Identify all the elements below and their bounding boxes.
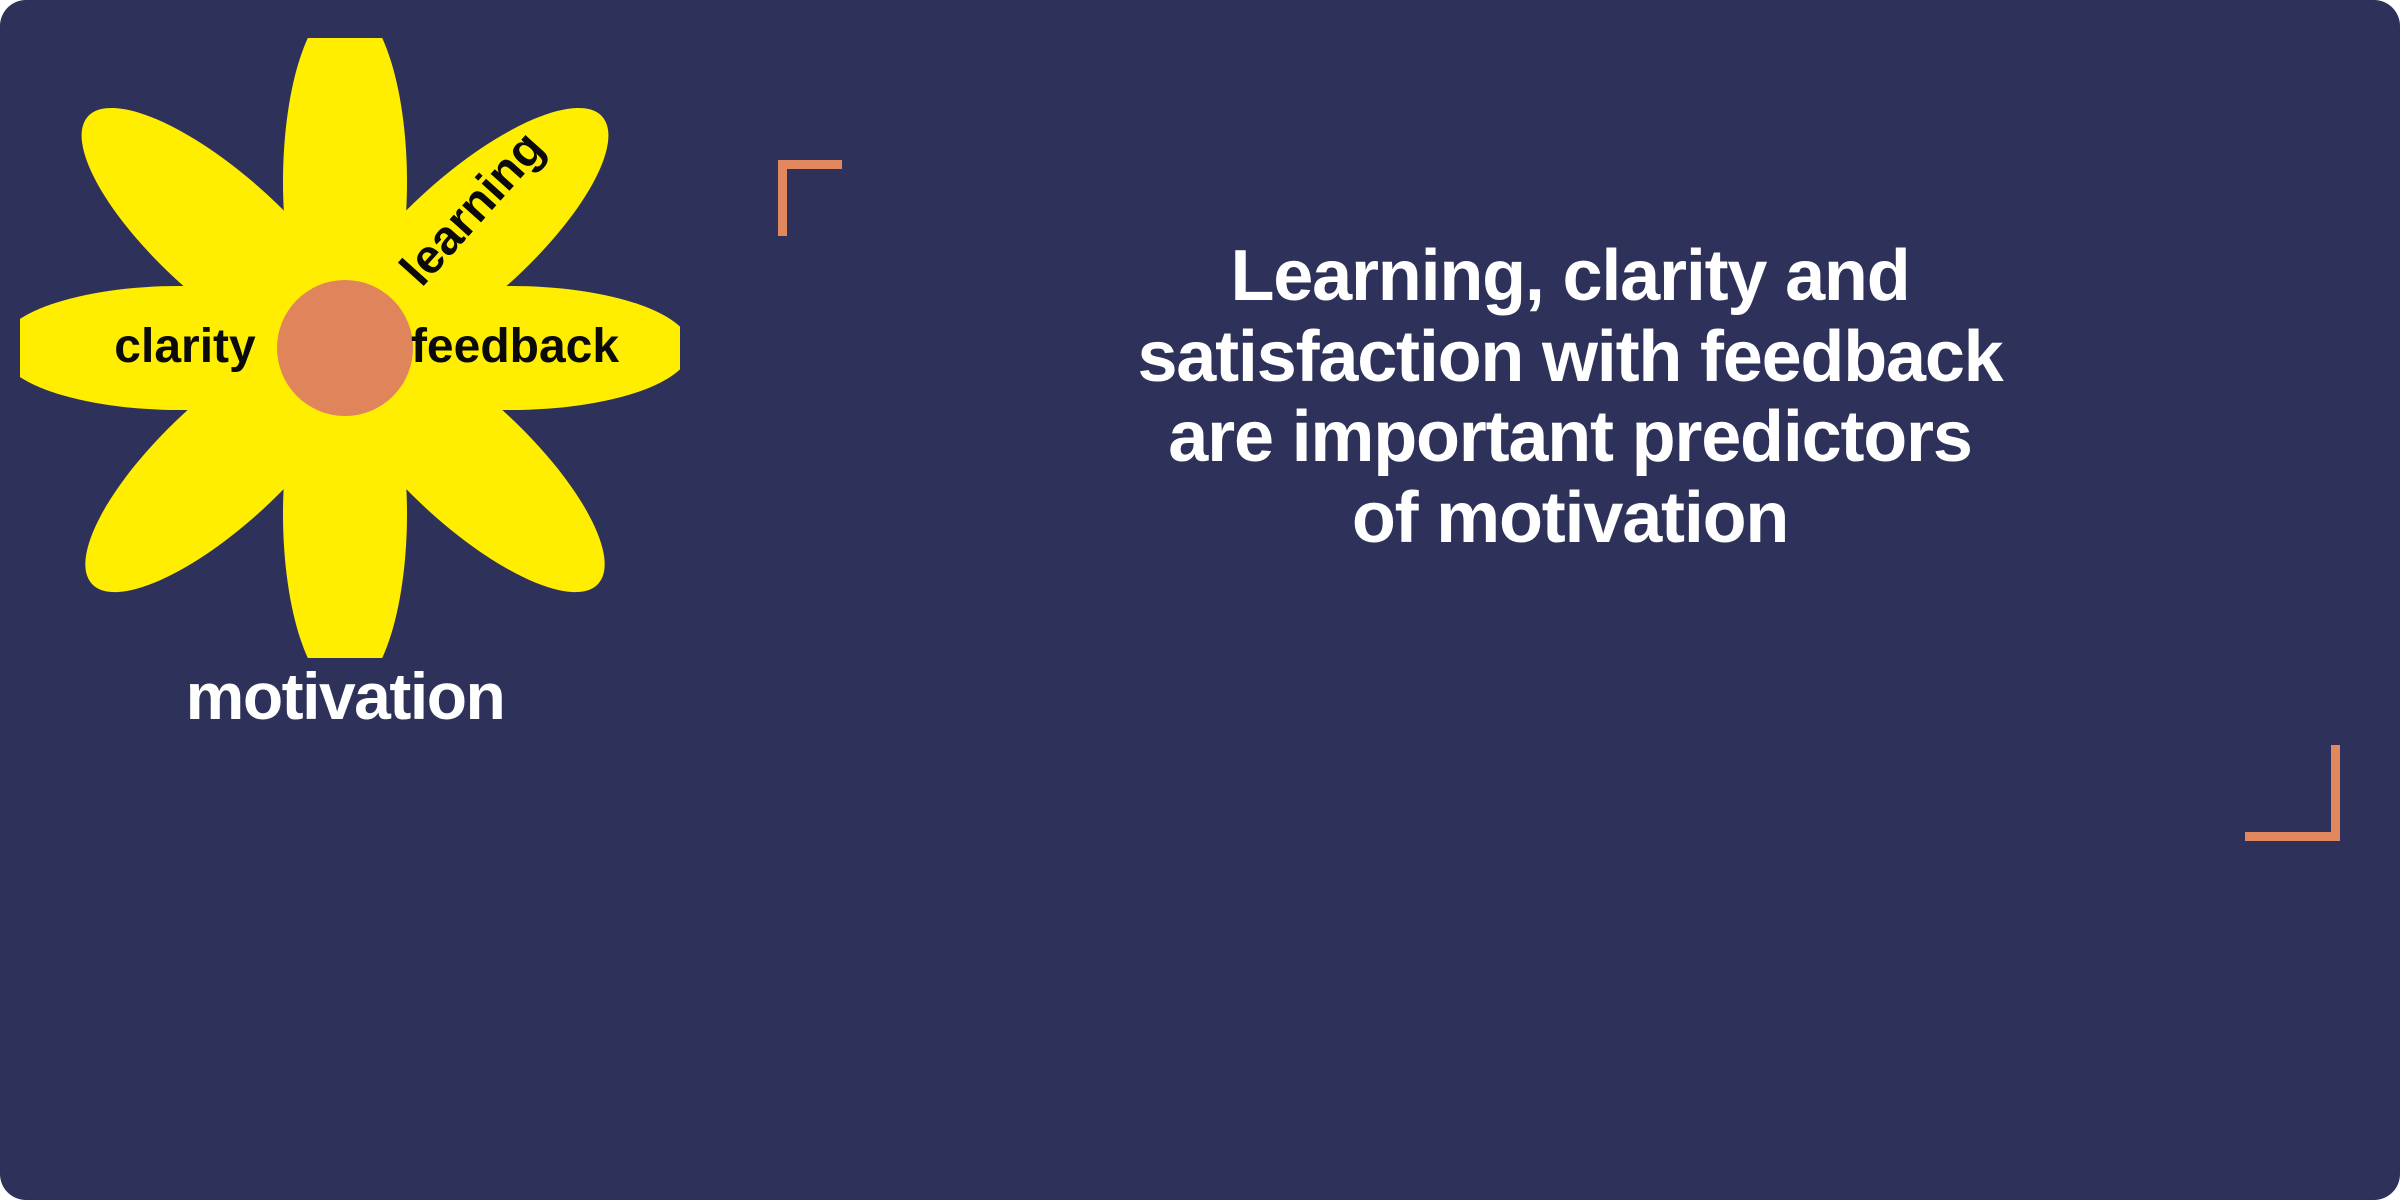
headline-line-3: are important predictors [820,397,2320,478]
bracket-vertical-bar [778,160,787,236]
flower-diagram: clarity feedback learning [20,38,680,658]
headline-line-1: Learning, clarity and [820,236,2320,317]
petal-label-clarity: clarity [114,320,256,373]
bracket-vertical-bar [2331,745,2340,841]
headline-line-4: of motivation [820,478,2320,559]
flower-center-circle [277,280,413,416]
corner-bracket-bottom-right-icon [2245,745,2340,841]
petal-label-feedback: feedback [411,320,619,373]
bracket-horizontal-bar [2245,832,2340,841]
headline-panel: Learning, clarity and satisfaction with … [760,140,2360,860]
headline: Learning, clarity and satisfaction with … [820,236,2320,559]
flower-svg: clarity feedback learning [20,38,680,658]
corner-bracket-top-left-icon [778,160,842,236]
slide-canvas: clarity feedback learning motivation Lea… [0,0,2400,1200]
bracket-horizontal-bar [778,160,842,169]
headline-line-2: satisfaction with feedback [820,317,2320,398]
motivation-caption: motivation [0,662,690,731]
